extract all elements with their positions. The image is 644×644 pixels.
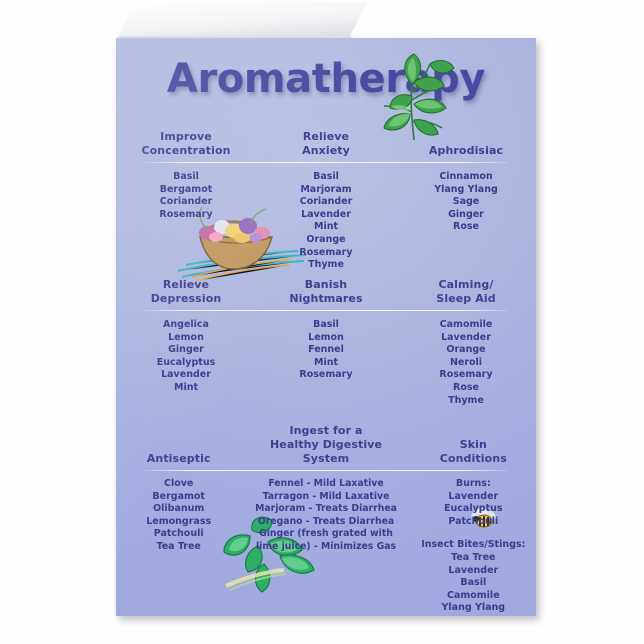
section-heading: Ingest for a Healthy Digestive System: [241, 400, 410, 466]
greeting-card-front[interactable]: Aromatherapy: [116, 38, 536, 616]
section-antiseptic[interactable]: Antiseptic Clove Bergamot Olibanum Lemon…: [116, 400, 241, 554]
section-row-2: Relieve Depression Angelica Lemon Ginger…: [116, 278, 536, 407]
section-heading: Improve Concentration: [116, 130, 256, 158]
sections-grid: Improve Concentration Basil Bergamot Cor…: [116, 38, 536, 616]
section-calming-sleep-aid[interactable]: Calming/ Sleep Aid Camomile Lavender Ora…: [396, 278, 536, 407]
screenshot-canvas: Aromatherapy: [0, 0, 644, 644]
section-list: Fennel - Mild Laxative Tarragon - Mild L…: [241, 478, 410, 554]
section-banish-nightmares[interactable]: Banish Nightmares Basil Lemon Fennel Min…: [256, 278, 396, 382]
section-heading: Relieve Depression: [116, 278, 256, 306]
section-list: Basil Marjoram Coriander Lavender Mint O…: [256, 171, 396, 272]
section-heading: Calming/ Sleep Aid: [396, 278, 536, 306]
section-aphrodisiac[interactable]: Aphrodisiac Cinnamon Ylang Ylang Sage Gi…: [396, 130, 536, 234]
section-row-1: Improve Concentration Basil Bergamot Cor…: [116, 130, 536, 272]
section-list: Burns: Lavender Eucalyptus Patchouli Ins…: [411, 478, 536, 615]
section-list: Basil Bergamot Coriander Rosemary: [116, 171, 256, 221]
section-heading: Relieve Anxiety: [256, 130, 396, 158]
card-back-flap: [117, 2, 367, 40]
section-heading: Skin Conditions: [411, 400, 536, 466]
section-list: Basil Lemon Fennel Mint Rosemary: [256, 319, 396, 382]
section-row-3: Antiseptic Clove Bergamot Olibanum Lemon…: [116, 400, 536, 615]
section-list: Camomile Lavender Orange Neroli Rosemary…: [396, 319, 536, 407]
section-ingest-healthy-digestive-system[interactable]: Ingest for a Healthy Digestive System Fe…: [241, 400, 410, 554]
list-spacer: [411, 528, 536, 539]
section-heading: Aphrodisiac: [396, 130, 536, 158]
section-list: Clove Bergamot Olibanum Lemongrass Patch…: [116, 478, 241, 554]
section-relieve-anxiety[interactable]: Relieve Anxiety Basil Marjoram Coriander…: [256, 130, 396, 272]
section-heading: Antiseptic: [116, 400, 241, 466]
section-list: Angelica Lemon Ginger Eucalyptus Lavende…: [116, 319, 256, 395]
section-heading: Banish Nightmares: [256, 278, 396, 306]
section-list: Cinnamon Ylang Ylang Sage Ginger Rose: [396, 171, 536, 234]
section-skin-conditions[interactable]: Skin Conditions Burns: Lavender Eucalypt…: [411, 400, 536, 615]
section-relieve-depression[interactable]: Relieve Depression Angelica Lemon Ginger…: [116, 278, 256, 395]
section-improve-concentration[interactable]: Improve Concentration Basil Bergamot Cor…: [116, 130, 256, 221]
